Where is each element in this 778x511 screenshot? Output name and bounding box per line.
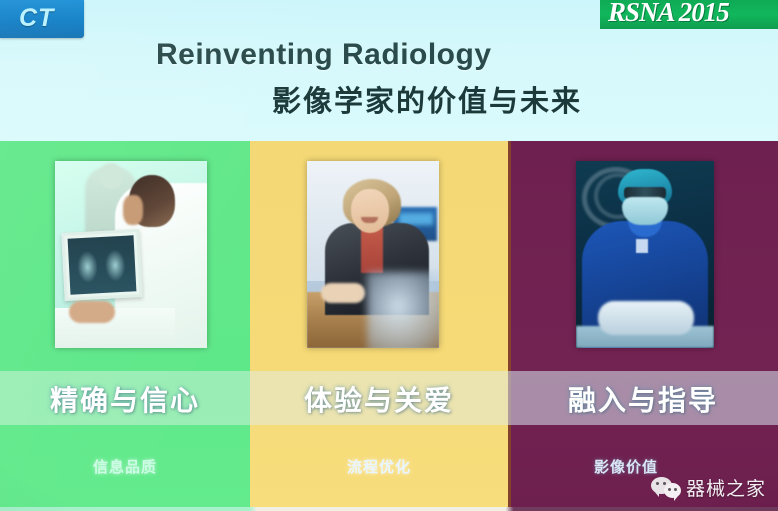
column-sub-label: 流程优化 [250, 456, 508, 477]
column-sub-label: 信息品质 [0, 456, 250, 477]
slide-column-experience: 体验与关爱 流程优化 [250, 141, 508, 507]
photo-surgeon-operating-room [576, 161, 714, 348]
slide-column-accuracy: 精确与信心 信息品质 [0, 141, 250, 507]
presentation-slide: CT RSNA 2015 Reinventing Radiology 影像学家的… [0, 0, 778, 511]
surgeon-hands [598, 301, 694, 335]
ct-badge-label: CT [19, 4, 54, 33]
watermark-label: 器械之家 [686, 474, 766, 501]
slide-header: CT RSNA 2015 Reinventing Radiology 影像学家的… [0, 0, 778, 141]
foreground-blur [367, 272, 439, 348]
wechat-icon [651, 476, 681, 500]
column-label-band: 体验与关爱 [250, 371, 508, 425]
photo-receptionist-greeting [307, 161, 439, 348]
column-label: 体验与关爱 [250, 379, 508, 419]
patient-head [99, 163, 123, 189]
xray-monitor [61, 229, 142, 301]
slide-title-chinese: 影像学家的价值与未来 [272, 78, 582, 120]
column-label-band: 融入与指导 [508, 371, 778, 425]
wechat-eye [663, 482, 666, 485]
column-label: 融入与指导 [508, 379, 778, 419]
watermark: 器械之家 [651, 474, 766, 501]
rsna-logo-text: RSNA 2015 [608, 0, 729, 28]
doctor-face [123, 195, 143, 225]
wechat-eye [668, 488, 671, 491]
woman-arm [321, 283, 365, 303]
photo-radiologist-workstation [55, 161, 207, 348]
chest-xray-image [68, 235, 137, 294]
rsna-conference-logo: RSNA 2015 [600, 0, 778, 29]
slide-title-english: Reinventing Radiology [156, 38, 492, 72]
slide-column-integration: 融入与指导 影像价值 [508, 141, 778, 507]
gown-tag [636, 239, 648, 253]
woman-face [351, 189, 389, 233]
doctor-hand [69, 301, 115, 323]
wechat-eye [674, 488, 677, 491]
column-label: 精确与信心 [0, 379, 250, 419]
bottom-edge-strip [0, 507, 778, 511]
surgical-mask [622, 197, 668, 225]
column-label-band: 精确与信心 [0, 371, 250, 425]
ct-badge: CT [0, 0, 84, 38]
wechat-eye [656, 482, 659, 485]
wechat-bubble-small [664, 483, 681, 498]
